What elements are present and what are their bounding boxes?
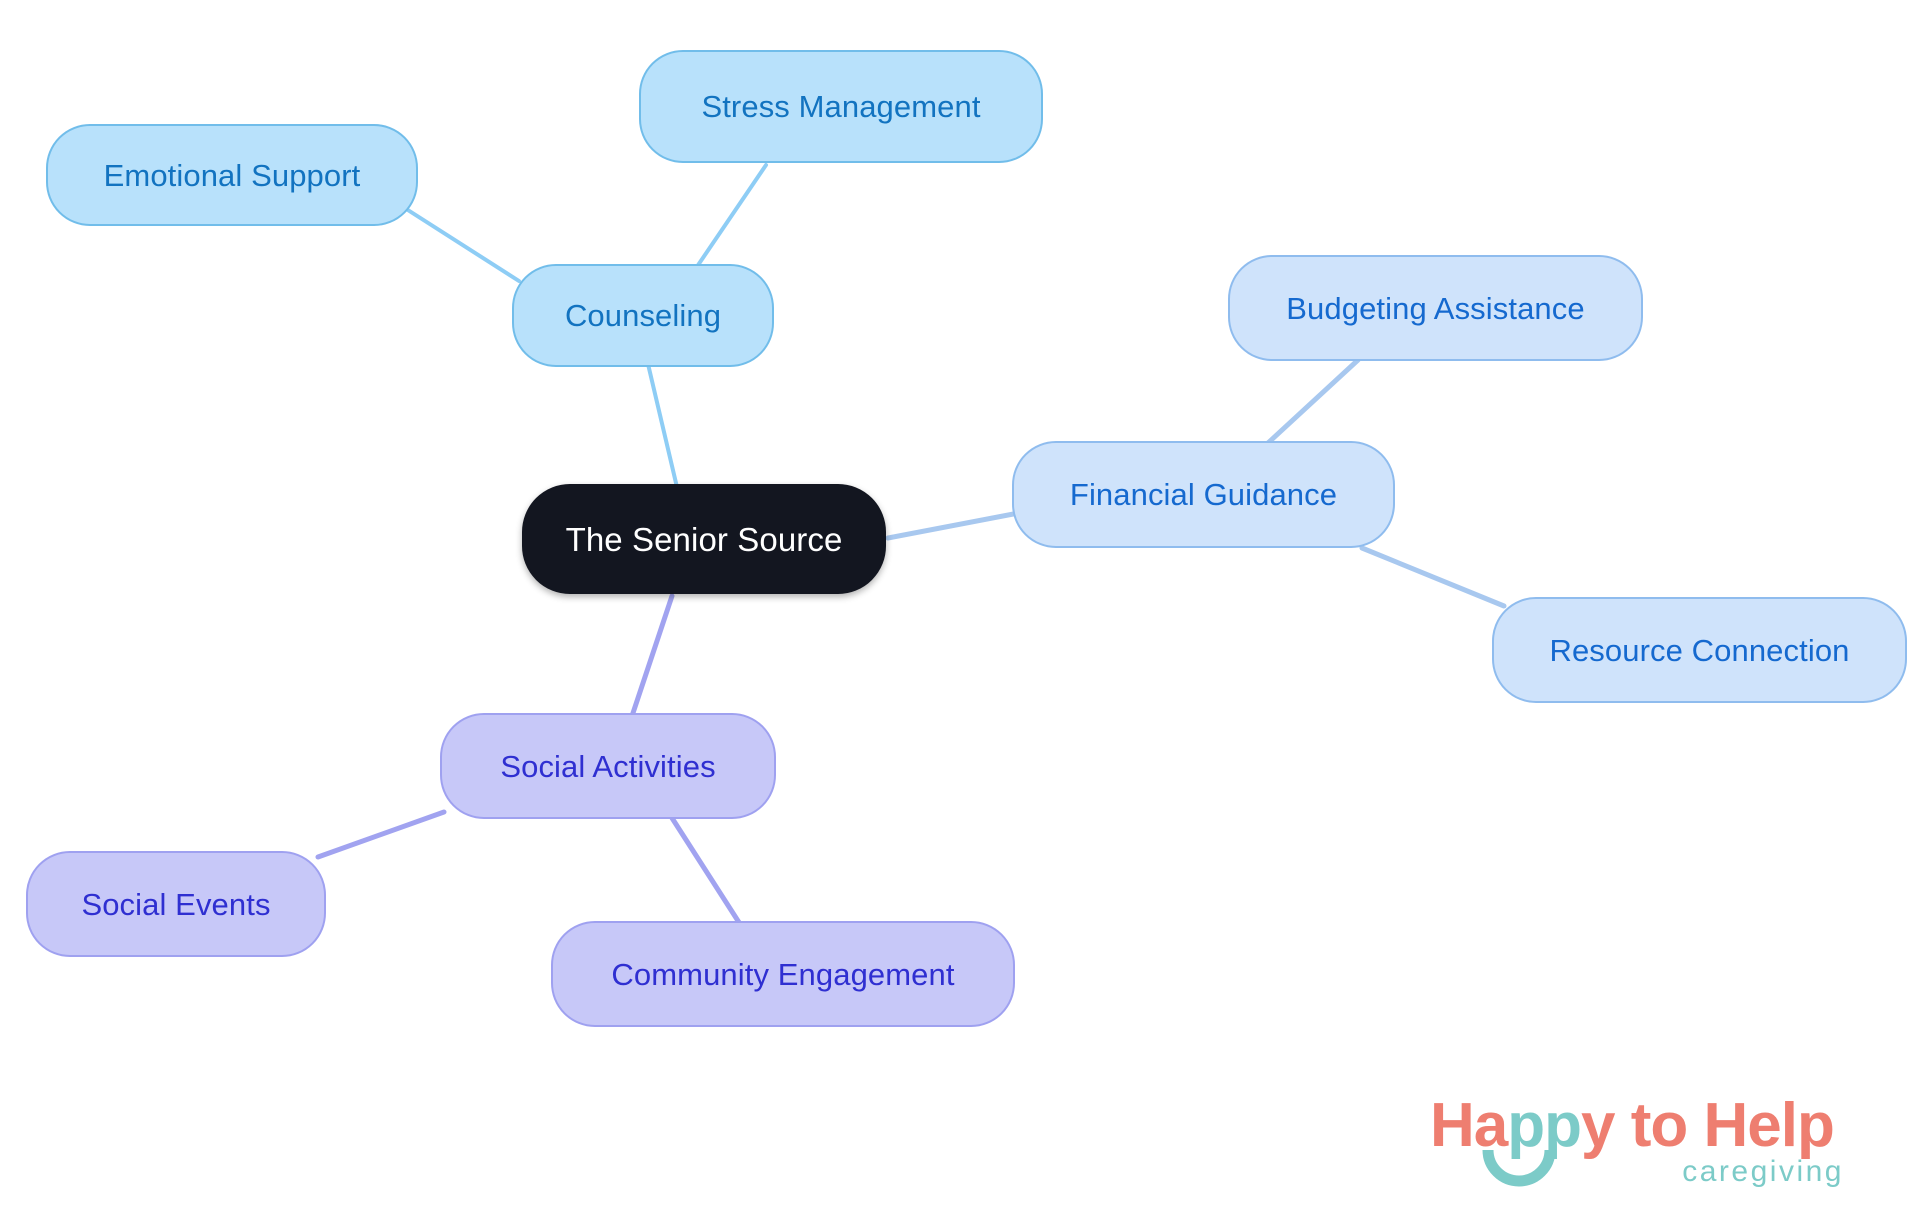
- edge-financial-guidance-to-budgeting-assistance: [1268, 360, 1358, 443]
- node-label-stress-management: Stress Management: [701, 91, 980, 122]
- node-budgeting-assistance[interactable]: Budgeting Assistance: [1228, 255, 1643, 361]
- node-community-engagement[interactable]: Community Engagement: [551, 921, 1015, 1027]
- logo-tagline: caregiving: [1682, 1157, 1844, 1187]
- node-label-community-engagement: Community Engagement: [611, 959, 954, 990]
- node-label-social-events: Social Events: [81, 889, 270, 920]
- edge-counseling-to-stress-management: [692, 165, 766, 274]
- edge-root-to-social-activities: [632, 596, 672, 716]
- edge-counseling-to-emotional-support: [400, 205, 519, 281]
- mindmap-canvas: The Senior Source Counseling Emotional S…: [0, 0, 1920, 1215]
- node-label-resource-connection: Resource Connection: [1549, 635, 1849, 666]
- node-stress-management[interactable]: Stress Management: [639, 50, 1043, 163]
- node-label-emotional-support: Emotional Support: [104, 160, 361, 191]
- node-financial-guidance[interactable]: Financial Guidance: [1012, 441, 1395, 548]
- node-label-budgeting-assistance: Budgeting Assistance: [1286, 293, 1584, 324]
- edge-root-to-financial-guidance: [888, 512, 1024, 538]
- edge-root-to-counseling: [648, 364, 680, 500]
- node-social-activities[interactable]: Social Activities: [440, 713, 776, 819]
- node-counseling[interactable]: Counseling: [512, 264, 774, 367]
- node-resource-connection[interactable]: Resource Connection: [1492, 597, 1907, 703]
- node-label-counseling: Counseling: [565, 300, 721, 331]
- happy-to-help-logo: Happy to Help caregiving: [1430, 1095, 1850, 1205]
- node-social-events[interactable]: Social Events: [26, 851, 326, 957]
- node-label-the-senior-source: The Senior Source: [566, 523, 843, 556]
- smile-icon: [1482, 1148, 1556, 1194]
- edge-social-activities-to-community-engagement: [672, 818, 740, 924]
- edge-social-activities-to-social-events: [318, 812, 444, 857]
- edge-financial-guidance-to-resource-connection: [1362, 548, 1504, 606]
- logo-word-part-3: y to Help: [1581, 1091, 1834, 1160]
- node-label-social-activities: Social Activities: [500, 751, 715, 782]
- node-the-senior-source[interactable]: The Senior Source: [522, 484, 886, 594]
- node-emotional-support[interactable]: Emotional Support: [46, 124, 418, 226]
- node-label-financial-guidance: Financial Guidance: [1070, 479, 1337, 510]
